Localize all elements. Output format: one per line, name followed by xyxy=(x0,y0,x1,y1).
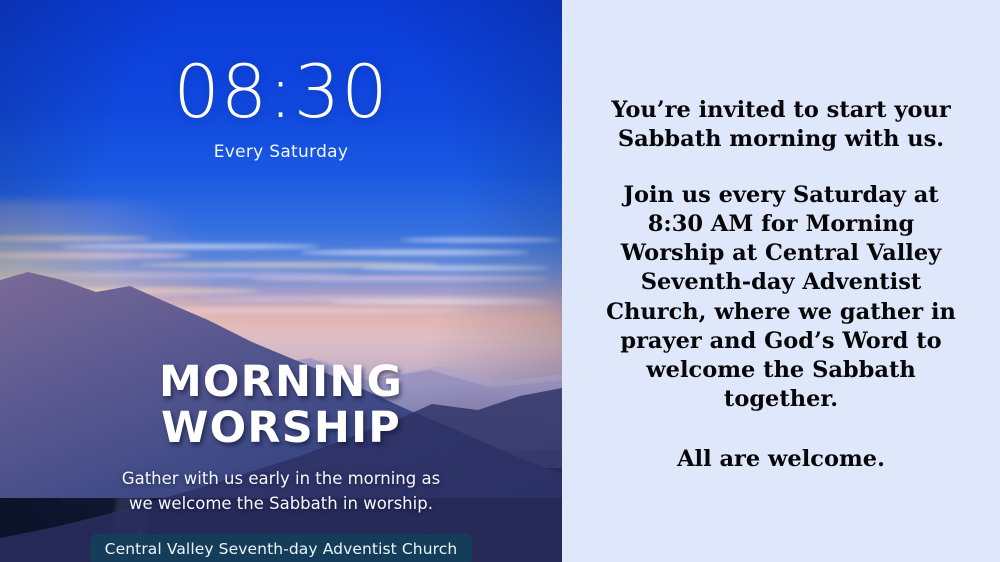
headline-line-2: WORSHIP xyxy=(0,406,562,452)
service-frequency: Every Saturday xyxy=(0,142,562,162)
invitation-text-panel: You’re invited to start your Sabbath mor… xyxy=(562,0,1000,562)
badge-row: Central Valley Seventh-day Adventist Chu… xyxy=(0,534,562,562)
church-name-badge: Central Valley Seventh-day Adventist Chu… xyxy=(90,534,473,562)
hero-image-panel: 08:30 Every Saturday MORNING WORSHIP Gat… xyxy=(0,0,562,562)
invitation-paragraph-1: You’re invited to start your Sabbath mor… xyxy=(601,96,961,155)
invitation-paragraph-3: All are welcome. xyxy=(677,445,885,474)
subtitle-block: Gather with us early in the morning as w… xyxy=(0,467,562,517)
invitation-paragraph-2: Join us every Saturday at 8:30 AM for Mo… xyxy=(601,181,961,415)
event-poster: 08:30 Every Saturday MORNING WORSHIP Gat… xyxy=(0,0,1000,562)
subtitle-line-1: Gather with us early in the morning as xyxy=(0,467,562,492)
clock-overlay: 08:30 Every Saturday xyxy=(0,56,562,162)
service-time: 08:30 xyxy=(0,56,562,129)
headline-overlay: MORNING WORSHIP Gather with us early in … xyxy=(0,360,562,562)
headline-line-1: MORNING xyxy=(0,360,562,406)
subtitle-line-2: we welcome the Sabbath in worship. xyxy=(0,492,562,517)
